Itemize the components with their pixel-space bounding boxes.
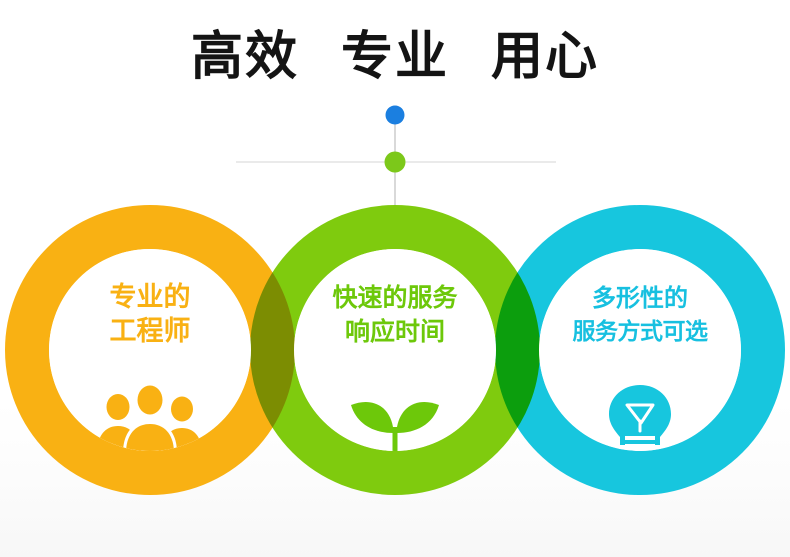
circle-service-modes-line-1: 多形性的 [539,281,741,315]
sprout-icon [335,383,455,451]
circle-engineers-line-1: 专业的 [49,281,251,315]
circle-service-modes-text: 多形性的 服务方式可选 [539,281,741,349]
circle-response-text: 快速的服务 响应时间 [294,281,496,349]
poster-canvas: 高效专业用心 专业的 工程师 [0,0,790,557]
circle-engineers-text: 专业的 工程师 [49,281,251,349]
circle-response-line-2: 响应时间 [294,315,496,349]
circle-service-modes: 多形性的 服务方式可选 [539,249,741,451]
circle-response-line-1: 快速的服务 [294,281,496,315]
lightbulb-icon [595,381,685,451]
team-icon [90,383,210,451]
circle-engineers-line-2: 工程师 [49,315,251,349]
circle-engineers: 专业的 工程师 [49,249,251,451]
circle-service-modes-line-2: 服务方式可选 [539,315,741,349]
circle-response: 快速的服务 响应时间 [294,249,496,451]
